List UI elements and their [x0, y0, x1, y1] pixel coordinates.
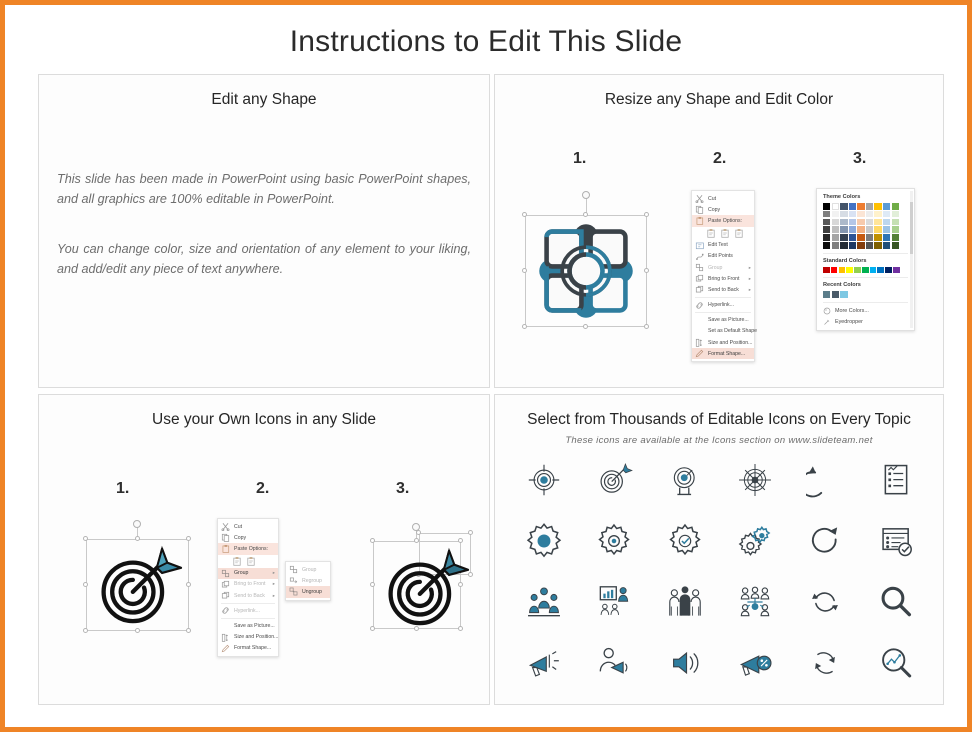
theme-row-1	[823, 211, 908, 218]
group-icon	[289, 565, 298, 574]
menu-item-label: Paste Options:	[708, 218, 742, 224]
paste-options-row[interactable]	[218, 555, 278, 568]
discount-megaphone-icon[interactable]	[736, 644, 774, 682]
format-shape-icon	[695, 349, 704, 358]
resize-handle-w[interactable]	[370, 582, 375, 587]
menu-item-bring-to-front[interactable]: Bring to Front▸	[692, 273, 754, 284]
menu-item-group[interactable]: Group▸	[692, 262, 754, 273]
submenu-item-ungroup[interactable]: Ungroup	[286, 586, 330, 597]
checklist-approved-icon[interactable]	[877, 522, 915, 560]
panel-use-own-icons: Use your Own Icons in any Slide 1. 2. 3.	[38, 394, 490, 705]
paste-keep-formatting-icon[interactable]	[232, 556, 242, 566]
menu-item-label: Cut	[708, 196, 716, 202]
megaphone-icon[interactable]	[525, 644, 563, 682]
copy-icon	[695, 205, 704, 214]
color-swatch[interactable]	[893, 267, 900, 274]
resize-handle-se[interactable]	[186, 628, 191, 633]
crosshair-scope-icon[interactable]	[736, 461, 774, 499]
color-swatch[interactable]	[874, 211, 881, 218]
color-swatch[interactable]	[870, 267, 877, 274]
menu-item-label: Size and Position...	[234, 634, 278, 640]
none	[221, 621, 230, 630]
resize-step-number-1: 1.	[573, 150, 586, 168]
double-gear-icon[interactable]	[736, 522, 774, 560]
chevron-right-icon: ▸	[749, 276, 751, 282]
hyperlink-icon	[221, 606, 230, 615]
color-swatch[interactable]	[849, 234, 856, 241]
color-swatch[interactable]	[832, 211, 839, 218]
color-swatch[interactable]	[823, 226, 830, 233]
icon-context-menu[interactable]: CutCopyPaste Options:Group▸Bring to Fron…	[217, 518, 279, 657]
menu-item-save-as-picture[interactable]: Save as Picture...	[218, 620, 278, 631]
color-swatch[interactable]	[832, 291, 839, 298]
theme-row-3	[823, 226, 908, 233]
paste-icon	[221, 544, 230, 553]
selected-target-icon-figure[interactable]	[77, 523, 199, 645]
resize-handle-nw[interactable]	[522, 212, 527, 217]
color-swatch[interactable]	[849, 242, 856, 249]
chevron-right-icon: ▸	[273, 570, 275, 576]
color-swatch[interactable]	[892, 226, 899, 233]
selected-quadrant-shape-figure[interactable]	[517, 193, 657, 333]
menu-item-label: Cut	[234, 524, 242, 530]
submenu-item-label: Group	[302, 567, 316, 573]
color-swatch[interactable]	[857, 203, 864, 210]
resize-handle-ne[interactable]	[458, 538, 463, 543]
menu-item-copy[interactable]: Copy	[692, 204, 754, 215]
paste-keep-formatting-icon[interactable]	[706, 228, 716, 238]
own-icons-step-number-1: 1.	[116, 480, 129, 498]
color-swatch[interactable]	[840, 226, 847, 233]
paste-picture-icon[interactable]	[246, 556, 256, 566]
send-back-icon	[221, 591, 230, 600]
scrollbar-thumb[interactable]	[910, 202, 913, 254]
gear-dot-icon[interactable]	[595, 522, 633, 560]
panel-heading-own-icons: Use your Own Icons in any Slide	[39, 411, 489, 429]
checklist-document-icon[interactable]	[877, 461, 915, 499]
chevron-right-icon: ▸	[749, 287, 751, 293]
color-swatch[interactable]	[866, 211, 873, 218]
panel-edit-any-shape: Edit any Shape This slide has been made …	[38, 74, 490, 388]
bring-front-icon	[221, 580, 230, 589]
color-swatch[interactable]	[840, 219, 847, 226]
divider	[823, 253, 908, 254]
color-swatch[interactable]	[832, 226, 839, 233]
resize-handle-nw[interactable]	[83, 536, 88, 541]
standard-colors-label: Standard Colors	[823, 258, 908, 264]
presentation-team-icon[interactable]	[595, 583, 633, 621]
slide-frame: Instructions to Edit This Slide Edit any…	[0, 0, 972, 732]
eyedropper-icon	[823, 318, 831, 326]
group-submenu[interactable]: GroupRegroupUngroup	[285, 561, 331, 601]
color-swatch[interactable]	[866, 226, 873, 233]
send-back-icon	[695, 285, 704, 294]
resize-handle-n[interactable]	[414, 538, 419, 543]
magnifier-icon[interactable]	[877, 583, 915, 621]
resize-handle-se[interactable]	[644, 324, 649, 329]
color-swatch[interactable]	[854, 267, 861, 274]
color-swatch[interactable]	[883, 219, 890, 226]
edit-text-icon	[695, 241, 704, 250]
panel-subheading-icon-library: These icons are available at the Icons s…	[495, 435, 943, 446]
team-network-icon[interactable]	[736, 583, 774, 621]
color-swatch[interactable]	[849, 226, 856, 233]
menu-item-size-and-position[interactable]: Size and Position...	[218, 632, 278, 643]
menu-item-label: Group	[708, 265, 722, 271]
eyedropper-item[interactable]: Eyedropper	[823, 318, 908, 326]
menu-item-copy[interactable]: Copy	[218, 532, 278, 543]
menu-item-label: Group	[234, 570, 248, 576]
color-swatch[interactable]	[831, 267, 838, 274]
color-swatch[interactable]	[862, 267, 869, 274]
color-swatch[interactable]	[874, 234, 881, 241]
submenu-item-label: Ungroup	[302, 589, 322, 595]
menu-item-label: Bring to Front	[708, 276, 739, 282]
color-swatch[interactable]	[857, 242, 864, 249]
resize-handle-s[interactable]	[135, 628, 140, 633]
icon-library-grid	[509, 449, 931, 693]
scissors-icon	[695, 194, 704, 203]
menu-item-label: Size and Position...	[708, 340, 752, 346]
theme-row-4	[823, 234, 908, 241]
menu-item-label: Hyperlink...	[708, 302, 734, 308]
standard-colors-swatches[interactable]	[823, 267, 908, 274]
panel-heading-icon-library: Select from Thousands of Editable Icons …	[495, 411, 943, 429]
edit-shape-paragraph-2: You can change color, size and orientati…	[57, 240, 471, 279]
resize-handle-e[interactable]	[644, 268, 649, 273]
menu-divider	[695, 312, 751, 313]
resize-handle-n[interactable]	[135, 536, 140, 541]
color-swatch[interactable]	[849, 211, 856, 218]
color-swatch[interactable]	[839, 267, 846, 274]
size-position-icon	[221, 633, 230, 642]
shape-context-menu[interactable]: CutCopyPaste Options:Edit TextEdit Point…	[691, 190, 755, 362]
menu-item-label: Format Shape...	[234, 645, 271, 651]
page-title: Instructions to Edit This Slide	[5, 25, 967, 59]
resize-handle-w[interactable]	[522, 268, 527, 273]
chevron-right-icon: ▸	[273, 593, 275, 599]
color-swatch[interactable]	[874, 203, 881, 210]
rotation-handle[interactable]	[582, 191, 590, 199]
menu-item-format-shape[interactable]: Format Shape...	[218, 643, 278, 654]
menu-item-label: Format Shape...	[708, 351, 745, 357]
color-swatch[interactable]	[823, 203, 830, 210]
resize-handle-sw[interactable]	[522, 324, 527, 329]
color-swatch[interactable]	[840, 242, 847, 249]
circular-arrows-icon[interactable]	[806, 644, 844, 682]
group-icon	[221, 569, 230, 578]
menu-item-group[interactable]: Group▸	[218, 568, 278, 579]
color-swatch[interactable]	[832, 203, 839, 210]
color-swatch[interactable]	[823, 219, 830, 226]
own-icons-step-number-3: 3.	[396, 480, 409, 498]
menu-item-edit-points[interactable]: Edit Points	[692, 251, 754, 262]
color-swatch[interactable]	[857, 219, 864, 226]
color-swatch[interactable]	[874, 226, 881, 233]
menu-item-edit-text[interactable]: Edit Text	[692, 240, 754, 251]
crosshair-target-icon[interactable]	[525, 461, 563, 499]
color-swatch[interactable]	[832, 242, 839, 249]
resize-handle-sw[interactable]	[83, 628, 88, 633]
menu-item-send-to-back[interactable]: Send to Back▸	[692, 284, 754, 295]
color-swatch[interactable]	[885, 267, 892, 274]
resize-handle-ne[interactable]	[186, 536, 191, 541]
color-swatch[interactable]	[883, 203, 890, 210]
resize-handle-ne[interactable]	[644, 212, 649, 217]
color-swatch[interactable]	[823, 242, 830, 249]
gear-filled-icon[interactable]	[525, 522, 563, 560]
format-shape-icon	[221, 644, 230, 653]
resize-handle-w[interactable]	[83, 582, 88, 587]
menu-item-save-as-picture[interactable]: Save as Picture...	[692, 315, 754, 326]
color-swatch[interactable]	[823, 291, 830, 298]
color-swatch[interactable]	[866, 219, 873, 226]
target-stand-icon[interactable]	[666, 461, 704, 499]
color-swatch[interactable]	[892, 203, 899, 210]
resize-handle-sw[interactable]	[370, 626, 375, 631]
palette-icon	[823, 307, 831, 315]
theme-row-5	[823, 242, 908, 249]
chevron-right-icon: ▸	[749, 265, 751, 271]
hyperlink-icon	[695, 301, 704, 310]
none	[695, 316, 704, 325]
menu-divider	[221, 618, 275, 619]
theme-colors-swatches[interactable]	[823, 203, 908, 249]
color-swatch[interactable]	[866, 242, 873, 249]
arrow-handle-nw[interactable]	[416, 530, 421, 535]
menu-item-paste-options[interactable]: Paste Options:	[692, 215, 754, 226]
menu-item-hyperlink[interactable]: Hyperlink...	[218, 605, 278, 616]
regroup-icon	[289, 576, 298, 585]
resize-handle-e[interactable]	[186, 582, 191, 587]
menu-item-send-to-back[interactable]: Send to Back▸	[218, 590, 278, 601]
eyedropper-label: Eyedropper	[835, 319, 863, 325]
refresh-arrow-icon[interactable]	[806, 522, 844, 560]
team-podium-icon[interactable]	[525, 583, 563, 621]
chevron-right-icon: ▸	[273, 581, 275, 587]
color-swatch[interactable]	[846, 267, 853, 274]
bring-front-icon	[695, 274, 704, 283]
color-swatch[interactable]	[892, 211, 899, 218]
size-position-icon	[695, 338, 704, 347]
color-swatch[interactable]	[840, 234, 847, 241]
recent-colors-swatches[interactable]	[823, 291, 908, 298]
panel-icon-library: Select from Thousands of Editable Icons …	[494, 394, 944, 705]
color-swatch[interactable]	[857, 226, 864, 233]
resize-handle-nw[interactable]	[370, 538, 375, 543]
color-swatch[interactable]	[832, 234, 839, 241]
color-swatch[interactable]	[877, 267, 884, 274]
gear-check-icon[interactable]	[666, 522, 704, 560]
color-swatch[interactable]	[892, 234, 899, 241]
people-group-icon[interactable]	[666, 583, 704, 621]
color-swatch[interactable]	[840, 203, 847, 210]
menu-item-label: Copy	[234, 535, 246, 541]
color-swatch[interactable]	[823, 211, 830, 218]
divider	[823, 277, 908, 278]
edit-points-icon	[695, 252, 704, 261]
theme-row-0	[823, 203, 908, 210]
paste-keep-text-icon[interactable]	[734, 228, 744, 238]
color-swatch[interactable]	[823, 267, 830, 274]
submenu-item-label: Regroup	[302, 578, 322, 584]
paste-icon	[695, 216, 704, 225]
theme-colors-label: Theme Colors	[823, 194, 908, 200]
color-swatch[interactable]	[823, 234, 830, 241]
slide-canvas: Instructions to Edit This Slide Edit any…	[5, 5, 967, 727]
submenu-item-regroup[interactable]: Regroup	[286, 575, 330, 586]
color-swatch[interactable]	[857, 211, 864, 218]
menu-item-format-shape[interactable]: Format Shape...	[692, 348, 754, 359]
menu-item-label: Save as Picture...	[234, 623, 275, 629]
menu-item-label: Copy	[708, 207, 720, 213]
arrow-handle-ne[interactable]	[468, 530, 473, 535]
recent-colors-label: Recent Colors	[823, 282, 908, 288]
color-swatch[interactable]	[866, 203, 873, 210]
color-picker-scrollbar[interactable]	[910, 191, 913, 328]
rotation-handle[interactable]	[133, 520, 141, 528]
menu-item-bring-to-front[interactable]: Bring to Front▸	[218, 579, 278, 590]
menu-item-label: Bring to Front	[234, 581, 265, 587]
ungrouped-target-arrow-graphic	[377, 544, 473, 630]
panel-resize-shape-edit-color: Resize any Shape and Edit Color 1. 2. 3.	[494, 74, 944, 388]
menu-item-paste-options[interactable]: Paste Options:	[218, 543, 278, 554]
quadrant-shape-graphic	[530, 216, 642, 326]
menu-item-label: Edit Points	[708, 253, 733, 259]
menu-item-label: Hyperlink...	[234, 608, 260, 614]
speaker-icon[interactable]	[666, 644, 704, 682]
resize-step-number-3: 3.	[853, 150, 866, 168]
sync-arrows-icon[interactable]	[806, 583, 844, 621]
color-swatch[interactable]	[857, 234, 864, 241]
color-swatch[interactable]	[866, 234, 873, 241]
menu-item-hyperlink[interactable]: Hyperlink...	[692, 300, 754, 311]
scissors-icon	[221, 522, 230, 531]
magnifier-chart-icon[interactable]	[877, 644, 915, 682]
own-icons-step-number-2: 2.	[256, 480, 269, 498]
color-swatch[interactable]	[892, 219, 899, 226]
menu-divider	[695, 297, 751, 298]
menu-item-cut[interactable]: Cut	[218, 521, 278, 532]
copy-icon	[221, 533, 230, 542]
edit-shape-paragraph-1: This slide has been made in PowerPoint u…	[57, 170, 471, 209]
panel-heading-edit-shape: Edit any Shape	[39, 91, 489, 109]
menu-item-label: Send to Back	[234, 593, 265, 599]
redo-arrow-icon[interactable]	[806, 461, 844, 499]
menu-item-label: Save as Picture...	[708, 317, 749, 323]
color-swatch[interactable]	[874, 242, 881, 249]
more-colors-item[interactable]: More Colors...	[823, 307, 908, 315]
color-swatch[interactable]	[883, 226, 890, 233]
color-swatch[interactable]	[892, 242, 899, 249]
paste-options-row[interactable]	[692, 227, 754, 240]
ungrouped-target-icon-figure[interactable]	[359, 523, 485, 645]
target-arrow-graphic	[90, 542, 186, 628]
divider	[823, 302, 908, 303]
color-swatch[interactable]	[840, 291, 847, 298]
color-picker-dropdown[interactable]: Theme Colors Standard Colors Recent Colo…	[816, 188, 915, 331]
person-megaphone-icon[interactable]	[595, 644, 633, 682]
menu-item-label: Paste Options:	[234, 546, 268, 552]
submenu-item-group[interactable]: Group	[286, 564, 330, 575]
none	[695, 327, 704, 336]
paste-picture-icon[interactable]	[720, 228, 730, 238]
menu-item-cut[interactable]: Cut	[692, 193, 754, 204]
menu-item-set-as-default-shape[interactable]: Set as Default Shape	[692, 326, 754, 337]
color-swatch[interactable]	[883, 234, 890, 241]
color-swatch[interactable]	[849, 219, 856, 226]
dartboard-arrow-icon[interactable]	[595, 461, 633, 499]
color-swatch[interactable]	[849, 203, 856, 210]
ungroup-icon	[289, 587, 298, 596]
color-swatch[interactable]	[883, 211, 890, 218]
menu-item-size-and-position[interactable]: Size and Position...	[692, 337, 754, 348]
color-swatch[interactable]	[883, 242, 890, 249]
more-colors-label: More Colors...	[835, 308, 869, 314]
panel-heading-resize-shape: Resize any Shape and Edit Color	[495, 91, 943, 109]
menu-item-label: Set as Default Shape	[708, 328, 757, 334]
resize-step-number-2: 2.	[713, 150, 726, 168]
group-icon	[695, 263, 704, 272]
menu-divider	[221, 603, 275, 604]
color-swatch[interactable]	[832, 219, 839, 226]
color-swatch[interactable]	[840, 211, 847, 218]
menu-item-label: Edit Text	[708, 242, 728, 248]
theme-row-2	[823, 219, 908, 226]
color-swatch[interactable]	[874, 219, 881, 226]
menu-item-label: Send to Back	[708, 287, 739, 293]
